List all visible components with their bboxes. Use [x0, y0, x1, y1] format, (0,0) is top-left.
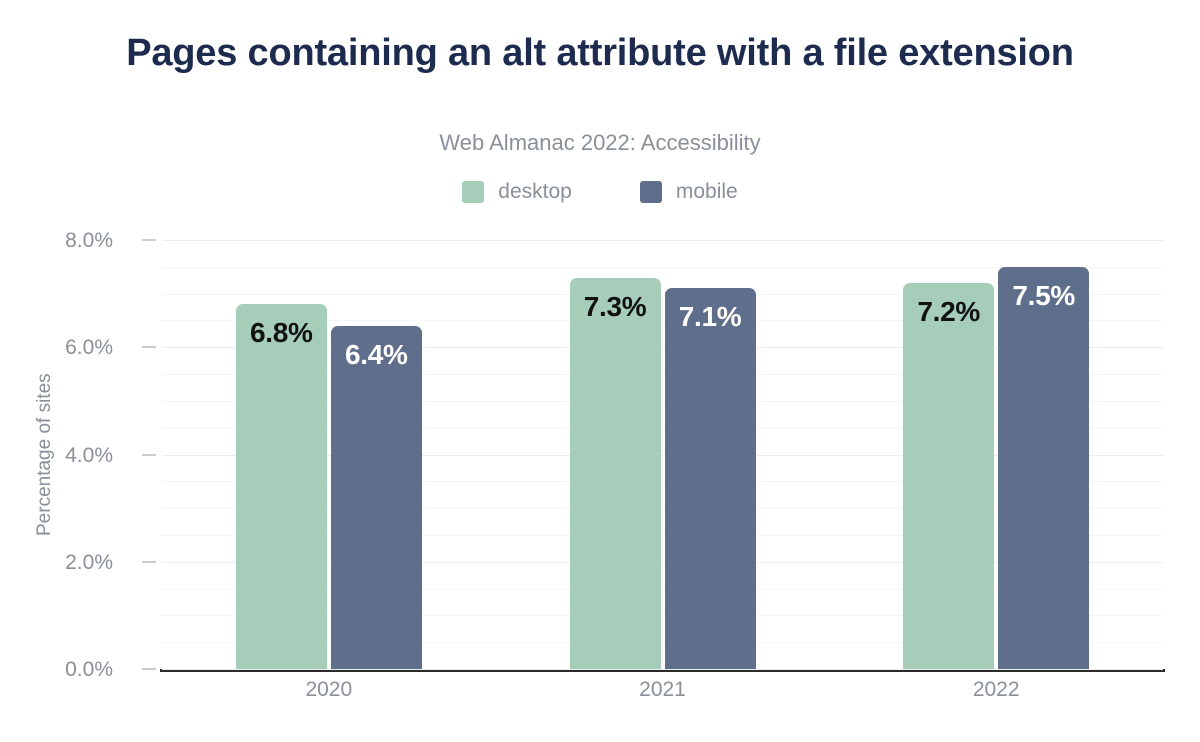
y-axis-tick-mark: [142, 668, 156, 670]
y-axis-tick-label: 2.0%: [0, 551, 113, 575]
gridline-major: [162, 669, 1163, 670]
y-axis-tick-mark: [142, 454, 156, 456]
y-axis-tick-mark: [142, 561, 156, 563]
bar-desktop-2020[interactable]: 6.8%: [236, 304, 327, 669]
chart-container: Pages containing an alt attribute with a…: [0, 0, 1200, 742]
gridline-major: [162, 240, 1163, 241]
y-axis-tick-mark: [142, 346, 156, 348]
chart-title: Pages containing an alt attribute with a…: [0, 30, 1200, 76]
bar-value-label: 7.2%: [917, 296, 980, 328]
x-axis-tick-label-2021: 2021: [639, 678, 686, 702]
y-axis-tick-label: 8.0%: [0, 229, 113, 253]
bar-value-label: 7.5%: [1012, 280, 1075, 312]
chart-subtitle: Web Almanac 2022: Accessibility: [0, 130, 1200, 156]
x-axis-tick-label-2020: 2020: [305, 678, 352, 702]
legend-item-mobile[interactable]: mobile: [640, 180, 738, 204]
legend-swatch-mobile: [640, 181, 662, 203]
plot-area: 0.0%2.0%4.0%6.0%8.0%6.8%6.4%7.3%7.1%7.2%…: [162, 240, 1163, 669]
chart-legend: desktop mobile: [0, 180, 1200, 204]
y-axis-tick-label: 4.0%: [0, 444, 113, 468]
bar-value-label: 6.4%: [345, 339, 408, 371]
bar-value-label: 7.3%: [584, 291, 647, 323]
y-axis-tick-label: 0.0%: [0, 658, 113, 682]
legend-swatch-desktop: [462, 181, 484, 203]
y-axis-tick-mark: [142, 239, 156, 241]
legend-label-desktop: desktop: [498, 180, 572, 204]
bar-mobile-2022[interactable]: 7.5%: [998, 267, 1089, 669]
bar-mobile-2020[interactable]: 6.4%: [331, 326, 422, 669]
y-axis-tick-label: 6.0%: [0, 336, 113, 360]
bar-mobile-2021[interactable]: 7.1%: [665, 288, 756, 669]
legend-item-desktop[interactable]: desktop: [462, 180, 572, 204]
legend-label-mobile: mobile: [676, 180, 738, 204]
bar-value-label: 7.1%: [679, 301, 742, 333]
bar-value-label: 6.8%: [250, 317, 313, 349]
x-axis-tick-label-2022: 2022: [973, 678, 1020, 702]
bar-desktop-2021[interactable]: 7.3%: [570, 278, 661, 670]
bar-desktop-2022[interactable]: 7.2%: [903, 283, 994, 669]
